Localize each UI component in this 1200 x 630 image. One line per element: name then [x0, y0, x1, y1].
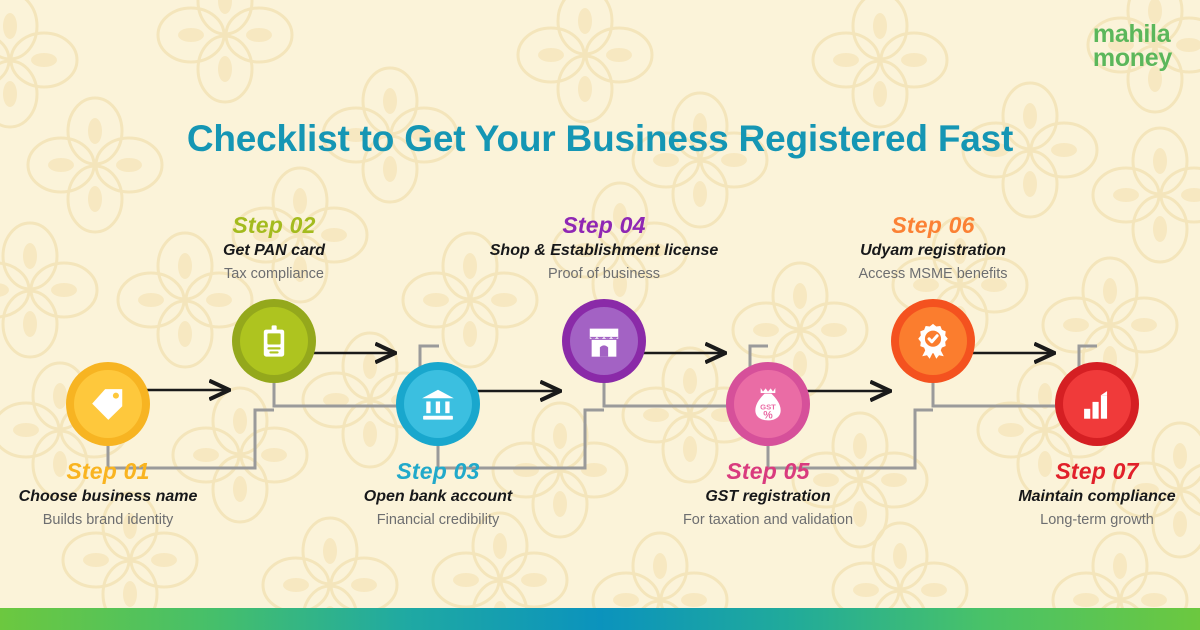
step-3-subtitle: Financial credibility [268, 509, 608, 532]
step-3-title: Open bank account [268, 485, 608, 509]
step-4-circle[interactable] [562, 299, 646, 383]
step-6-circle[interactable] [891, 299, 975, 383]
step-5-number: Step 05 [598, 458, 938, 485]
step-1-circle[interactable] [66, 362, 150, 446]
award-badge-icon [914, 322, 952, 360]
step-2-number: Step 02 [104, 212, 444, 239]
step-6-title: Udyam registration [763, 239, 1103, 263]
bar-chart-icon [1079, 386, 1115, 422]
step-7-circle[interactable] [1055, 362, 1139, 446]
step-1-title: Choose business name [0, 485, 278, 509]
infographic-canvas: Step 01 Choose business name Builds bran… [0, 0, 1200, 630]
step-3-circle[interactable] [396, 362, 480, 446]
step-7-label: Step 07 Maintain compliance Long-term gr… [927, 458, 1200, 532]
step-4-title: Shop & Establishment license [434, 239, 774, 263]
step-6-label: Step 06 Udyam registration Access MSME b… [763, 212, 1103, 286]
step-6-number: Step 06 [763, 212, 1103, 239]
brand-logo-line1: mahila [1093, 22, 1172, 46]
id-card-icon [256, 323, 292, 359]
step-3-label: Step 03 Open bank account Financial cred… [268, 458, 608, 532]
step-2-label: Step 02 Get PAN card Tax compliance [104, 212, 444, 286]
step-4-subtitle: Proof of business [434, 263, 774, 286]
page-title: Checklist to Get Your Business Registere… [0, 118, 1200, 160]
step-2-title: Get PAN card [104, 239, 444, 263]
step-4-number: Step 04 [434, 212, 774, 239]
step-6-subtitle: Access MSME benefits [763, 263, 1103, 286]
step-2-circle[interactable] [232, 299, 316, 383]
step-3-number: Step 03 [268, 458, 608, 485]
storefront-icon [585, 322, 623, 360]
step-2-subtitle: Tax compliance [104, 263, 444, 286]
step-7-subtitle: Long-term growth [927, 509, 1200, 532]
step-5-title: GST registration [598, 485, 938, 509]
step-4-label: Step 04 Shop & Establishment license Pro… [434, 212, 774, 286]
gst-money-bag-icon: GST % [748, 384, 788, 424]
brand-logo-line2: money [1093, 46, 1172, 70]
step-5-circle[interactable]: GST % [726, 362, 810, 446]
step-1-subtitle: Builds brand identity [0, 509, 278, 532]
bank-icon [419, 385, 457, 423]
tag-icon [89, 385, 127, 423]
bottom-accent-bar [0, 608, 1200, 630]
step-5-subtitle: For taxation and validation [598, 509, 938, 532]
step-7-title: Maintain compliance [927, 485, 1200, 509]
step-1-label: Step 01 Choose business name Builds bran… [0, 458, 278, 532]
step-7-number: Step 07 [927, 458, 1200, 485]
svg-text:%: % [763, 409, 773, 421]
step-1-number: Step 01 [0, 458, 278, 485]
step-5-label: Step 05 GST registration For taxation an… [598, 458, 938, 532]
brand-logo[interactable]: mahila money [1093, 22, 1172, 70]
